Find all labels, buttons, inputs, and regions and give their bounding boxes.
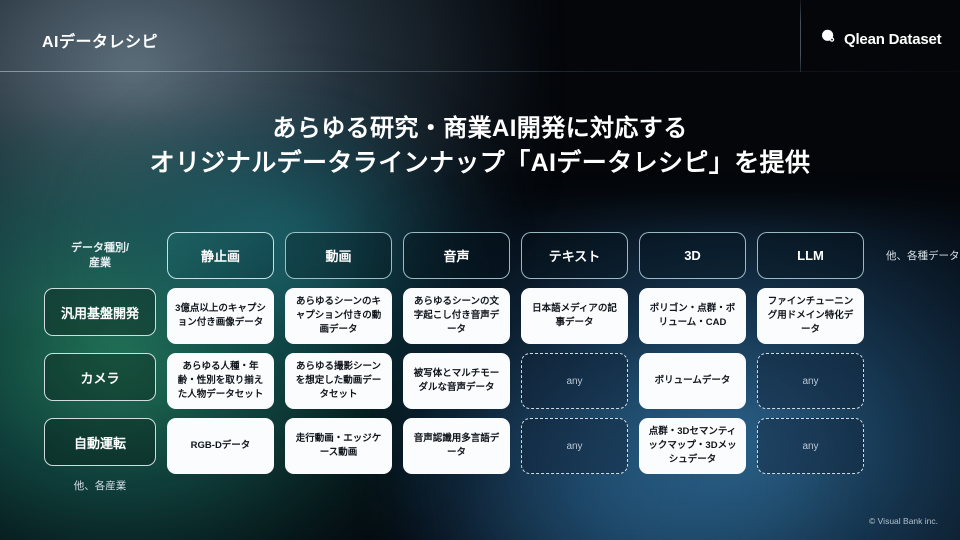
cell-text: 日本語メディアの記事データ: [528, 302, 621, 330]
cell-text: 音声認識用多言語データ: [410, 432, 503, 460]
brand-logo: Qlean Dataset: [820, 28, 941, 50]
column-header-5[interactable]: LLM: [757, 232, 864, 279]
matrix-cell-2-3[interactable]: any: [521, 418, 628, 474]
column-header-label: 静止画: [201, 246, 240, 265]
column-header-label: 動画: [325, 246, 351, 265]
cell-text: あらゆるシーンの文字起こし付き音声データ: [410, 295, 503, 337]
matrix-cell-2-5[interactable]: any: [757, 418, 864, 474]
columns-note: 他、各種データ: [875, 232, 960, 279]
row-label-text: 自動運転: [74, 433, 126, 452]
cell-text: 被写体とマルチモーダルな音声データ: [410, 367, 503, 395]
matrix-cell-1-1[interactable]: あらゆる撮影シーンを想定した動画データセット: [285, 353, 392, 409]
data-matrix: データ種別/ 産業 静止画 動画 音声 テキスト 3D LLM 他、各種データ …: [0, 232, 960, 483]
cell-text: あらゆる撮影シーンを想定した動画データセット: [292, 360, 385, 402]
matrix-cell-1-3[interactable]: any: [521, 353, 628, 409]
cell-text: 点群・3Dセマンティックマップ・3Dメッシュデータ: [646, 425, 739, 467]
header-vertical-divider: [800, 0, 801, 72]
matrix-row-2: 自動運転 RGB-Dデータ 走行動画・エッジケース動画 音声認識用多言語データ …: [0, 418, 960, 474]
row-label-0[interactable]: 汎用基盤開発: [44, 288, 156, 336]
matrix-cell-0-5[interactable]: ファインチューニング用ドメイン特化データ: [757, 288, 864, 344]
header-divider: [0, 71, 960, 72]
matrix-cell-1-2[interactable]: 被写体とマルチモーダルな音声データ: [403, 353, 510, 409]
cell-text: 走行動画・エッジケース動画: [292, 432, 385, 460]
matrix-cell-1-0[interactable]: あらゆる人種・年齢・性別を取り揃えた人物データセット: [167, 353, 274, 409]
rows-note: 他、各産業: [44, 478, 156, 493]
matrix-cell-2-4[interactable]: 点群・3Dセマンティックマップ・3Dメッシュデータ: [639, 418, 746, 474]
row-label-text: 汎用基盤開発: [61, 303, 139, 322]
matrix-row-1: カメラ あらゆる人種・年齢・性別を取り揃えた人物データセット あらゆる撮影シーン…: [0, 353, 960, 409]
brand-logo-text: Qlean Dataset: [844, 31, 941, 48]
axis-label: データ種別/ 産業: [44, 232, 156, 279]
axis-label-line-2: 産業: [89, 257, 111, 269]
column-header-label: 3D: [684, 248, 701, 263]
column-header-0[interactable]: 静止画: [167, 232, 274, 279]
cell-text: RGB-Dデータ: [191, 439, 251, 453]
matrix-cell-0-3[interactable]: 日本語メディアの記事データ: [521, 288, 628, 344]
column-header-3[interactable]: テキスト: [521, 232, 628, 279]
column-header-4[interactable]: 3D: [639, 232, 746, 279]
headline-line-1: あらゆる研究・商業AI開発に対応する: [0, 112, 960, 146]
matrix-cell-2-0[interactable]: RGB-Dデータ: [167, 418, 274, 474]
column-header-label: テキスト: [549, 246, 601, 265]
matrix-row-0: 汎用基盤開発 3億点以上のキャプション付き画像データ あらゆるシーンのキャプショ…: [0, 288, 960, 344]
matrix-cell-1-5[interactable]: any: [757, 353, 864, 409]
column-header-2[interactable]: 音声: [403, 232, 510, 279]
slide-root: AIデータレシピ Qlean Dataset あらゆる研究・商業AI開発に対応す…: [0, 0, 960, 540]
footer-copyright: © Visual Bank inc.: [869, 516, 938, 526]
slide-header: AIデータレシピ Qlean Dataset: [0, 0, 960, 72]
cell-text: 3億点以上のキャプション付き画像データ: [174, 302, 267, 330]
cell-text: any: [566, 441, 582, 452]
headline: あらゆる研究・商業AI開発に対応する オリジナルデータラインナップ「AIデータレ…: [0, 112, 960, 182]
matrix-cell-2-1[interactable]: 走行動画・エッジケース動画: [285, 418, 392, 474]
column-header-1[interactable]: 動画: [285, 232, 392, 279]
column-header-label: 音声: [443, 246, 469, 265]
row-label-text: カメラ: [80, 368, 119, 387]
cell-text: any: [566, 376, 582, 387]
matrix-cell-0-4[interactable]: ポリゴン・点群・ボリューム・CAD: [639, 288, 746, 344]
cell-text: any: [802, 441, 818, 452]
deck-title: AIデータレシピ: [42, 28, 158, 52]
matrix-cell-2-2[interactable]: 音声認識用多言語データ: [403, 418, 510, 474]
cell-text: あらゆる人種・年齢・性別を取り揃えた人物データセット: [174, 360, 267, 402]
cell-text: ボリュームデータ: [655, 374, 731, 388]
headline-line-2: オリジナルデータラインナップ「AIデータレシピ」を提供: [0, 146, 960, 182]
matrix-cell-0-1[interactable]: あらゆるシーンのキャプション付きの動画データ: [285, 288, 392, 344]
axis-label-line-1: データ種別/: [71, 242, 129, 254]
qlean-circle-mark-icon: [820, 28, 837, 50]
column-header-label: LLM: [797, 248, 824, 263]
matrix-cell-1-4[interactable]: ボリュームデータ: [639, 353, 746, 409]
cell-text: ポリゴン・点群・ボリューム・CAD: [646, 302, 739, 330]
matrix-cell-0-2[interactable]: あらゆるシーンの文字起こし付き音声データ: [403, 288, 510, 344]
matrix-header-row: データ種別/ 産業 静止画 動画 音声 テキスト 3D LLM 他、各種データ: [0, 232, 960, 279]
cell-text: あらゆるシーンのキャプション付きの動画データ: [292, 295, 385, 337]
cell-text: ファインチューニング用ドメイン特化データ: [764, 295, 857, 337]
cell-text: any: [802, 376, 818, 387]
row-label-2[interactable]: 自動運転: [44, 418, 156, 466]
matrix-cell-0-0[interactable]: 3億点以上のキャプション付き画像データ: [167, 288, 274, 344]
row-label-1[interactable]: カメラ: [44, 353, 156, 401]
